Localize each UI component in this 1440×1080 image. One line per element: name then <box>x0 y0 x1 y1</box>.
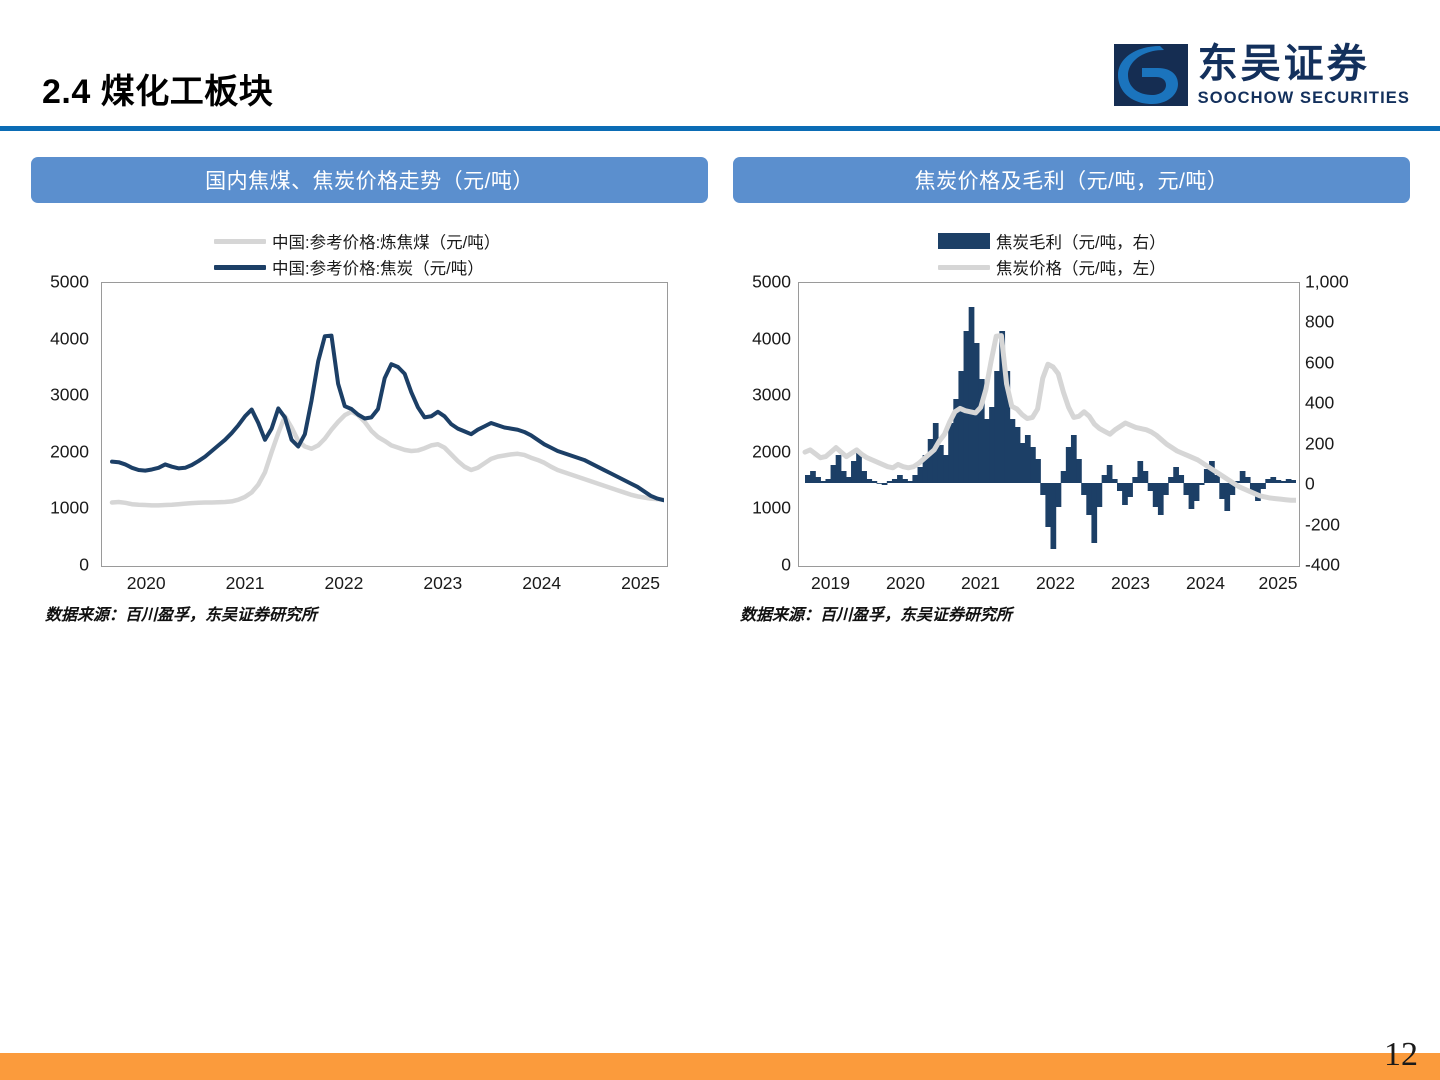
bar <box>882 483 888 485</box>
bar <box>902 479 908 483</box>
footer-bar <box>0 1053 1440 1080</box>
bar <box>810 471 816 483</box>
bar <box>1122 483 1128 505</box>
panel-header-left: 国内焦煤、焦炭价格走势（元/吨） <box>31 157 708 203</box>
page-number: 12 <box>1384 1036 1418 1074</box>
bar <box>912 475 918 483</box>
x-tick: 2023 <box>423 573 462 594</box>
brand-logo: 东吴证券 SOOCHOW SECURITIES <box>1114 44 1410 107</box>
y-tick: 3000 <box>50 385 89 406</box>
bar <box>1219 483 1225 499</box>
x-tick: 2023 <box>1111 573 1150 594</box>
y-tick: 2000 <box>50 441 89 462</box>
chart-panel-coking-coal-coke-price: 国内焦煤、焦炭价格走势（元/吨） 中国:参考价格:炼焦煤（元/吨） 中国:参考价… <box>31 157 708 620</box>
bar <box>851 461 857 483</box>
bar <box>1086 483 1092 515</box>
bar <box>1030 447 1036 483</box>
y-tick: 4000 <box>50 328 89 349</box>
logo-english-name: SOOCHOW SECURITIES <box>1198 90 1410 107</box>
y-tick: 0 <box>1305 474 1315 495</box>
bar <box>836 455 842 483</box>
bar <box>1183 483 1189 495</box>
bar <box>1097 483 1103 507</box>
page-title: 2.4 煤化工板块 <box>42 64 273 113</box>
bar <box>1143 471 1149 483</box>
bar <box>1010 419 1016 483</box>
source-note-left: 数据来源：百川盈孚，东吴证券研究所 <box>45 601 317 625</box>
chart-left: 中国:参考价格:炼焦煤（元/吨） 中国:参考价格:焦炭（元/吨） 5000 40… <box>31 225 708 620</box>
bar <box>1260 483 1266 489</box>
bar <box>1204 469 1210 483</box>
bar <box>1224 483 1230 511</box>
bar <box>1066 447 1072 483</box>
y-tick: 800 <box>1305 312 1334 333</box>
bar <box>1286 479 1292 483</box>
bar <box>918 467 924 483</box>
bar <box>1158 483 1164 515</box>
x-tick: 2020 <box>886 573 925 594</box>
plot-area-right <box>798 282 1300 567</box>
bar <box>1291 480 1296 483</box>
bar <box>1189 483 1195 509</box>
y-axis-right-right-chart: 1,000 800 600 400 200 0 -200 -400 <box>1305 282 1375 565</box>
bar <box>892 479 898 483</box>
bar <box>1117 483 1123 491</box>
x-tick: 2022 <box>324 573 363 594</box>
bar <box>1020 443 1026 483</box>
bar <box>1061 471 1067 483</box>
bar <box>1091 483 1097 543</box>
bar <box>989 407 995 483</box>
source-note-right: 数据来源：百川盈孚，东吴证券研究所 <box>740 601 1012 625</box>
bar <box>1153 483 1159 507</box>
x-tick: 2022 <box>1036 573 1075 594</box>
bar <box>846 477 852 483</box>
legend-label-coke-margin: 焦炭毛利（元/吨，右） <box>996 229 1166 253</box>
bar <box>1173 467 1179 483</box>
bar <box>948 423 954 483</box>
y-tick: 5000 <box>50 272 89 293</box>
x-tick: 2020 <box>127 573 166 594</box>
bar <box>1148 483 1154 491</box>
chart-right: 焦炭毛利（元/吨，右） 焦炭价格（元/吨，左） 5000 4000 3000 2… <box>733 225 1410 620</box>
bar <box>1015 427 1021 483</box>
x-tick: 2021 <box>961 573 1000 594</box>
bar <box>805 475 811 483</box>
y-tick: 600 <box>1305 352 1334 373</box>
x-tick: 2024 <box>522 573 561 594</box>
bar <box>825 479 831 483</box>
y-tick: -400 <box>1305 555 1340 576</box>
bar <box>1245 477 1251 483</box>
x-tick: 2025 <box>621 573 660 594</box>
bar <box>984 419 990 483</box>
bar-series <box>805 307 1296 549</box>
bar <box>1076 459 1082 483</box>
bar <box>994 371 1000 483</box>
header-divider <box>0 126 1440 131</box>
bar <box>1056 483 1062 507</box>
bar <box>1178 475 1184 483</box>
bar <box>866 479 872 483</box>
bar <box>1035 459 1041 483</box>
chart-legend-right: 焦炭毛利（元/吨，右） 焦炭价格（元/吨，左） <box>938 229 1166 279</box>
bar <box>1132 477 1138 483</box>
legend-item-coking-coal: 中国:参考价格:炼焦煤（元/吨） <box>214 229 500 253</box>
panel-header-right: 焦炭价格及毛利（元/吨，元/吨） <box>733 157 1410 203</box>
bar <box>897 475 903 483</box>
y-tick: 2000 <box>752 441 791 462</box>
y-axis-left-chart: 5000 4000 3000 2000 1000 0 <box>31 282 89 565</box>
y-tick: 400 <box>1305 393 1334 414</box>
bar <box>1112 479 1118 483</box>
y-tick: 1,000 <box>1305 272 1349 293</box>
y-axis-left-right-chart: 5000 4000 3000 2000 1000 0 <box>733 282 791 565</box>
bar <box>1276 480 1282 483</box>
legend-item-coke-price: 焦炭价格（元/吨，左） <box>938 255 1166 279</box>
bar <box>861 471 867 483</box>
bar <box>887 481 893 483</box>
logo-chinese-name: 东吴证券 <box>1198 44 1410 84</box>
legend-swatch-line-icon <box>214 265 266 270</box>
bar <box>958 371 964 483</box>
bar <box>1071 435 1077 483</box>
bar <box>969 307 975 483</box>
bar <box>1137 461 1143 483</box>
bar <box>1107 465 1113 483</box>
bar <box>1194 483 1200 501</box>
bar <box>938 445 944 483</box>
bar <box>856 453 862 483</box>
chart-panel-coke-price-and-margin: 焦炭价格及毛利（元/吨，元/吨） 焦炭毛利（元/吨，右） 焦炭价格（元/吨，左）… <box>733 157 1410 620</box>
bar <box>815 477 821 483</box>
chart-legend-left: 中国:参考价格:炼焦煤（元/吨） 中国:参考价格:焦炭（元/吨） <box>214 229 500 279</box>
x-tick: 2025 <box>1259 573 1298 594</box>
bar <box>1045 483 1051 527</box>
legend-label-coking-coal: 中国:参考价格:炼焦煤（元/吨） <box>272 229 500 253</box>
bar <box>943 455 949 483</box>
x-tick: 2021 <box>226 573 265 594</box>
logo-mark-icon <box>1114 44 1188 106</box>
x-tick: 2024 <box>1186 573 1225 594</box>
bar <box>1051 483 1057 549</box>
bar <box>820 481 826 483</box>
y-tick: 3000 <box>752 385 791 406</box>
plot-area-left <box>101 282 668 567</box>
y-tick: 0 <box>79 555 89 576</box>
x-tick: 2019 <box>811 573 850 594</box>
legend-label-coke-price: 焦炭价格（元/吨，左） <box>996 255 1166 279</box>
bar <box>1240 471 1246 483</box>
bar <box>1025 435 1031 483</box>
bar <box>1265 479 1271 483</box>
bar <box>841 471 847 483</box>
y-tick: 5000 <box>752 272 791 293</box>
y-tick: -200 <box>1305 514 1340 535</box>
legend-swatch-line-icon <box>938 265 990 270</box>
bar <box>1281 481 1287 483</box>
series-line <box>805 336 1296 501</box>
legend-item-coke-margin: 焦炭毛利（元/吨，右） <box>938 229 1166 253</box>
series-line <box>112 336 664 501</box>
y-tick: 200 <box>1305 433 1334 454</box>
bar <box>1081 483 1087 495</box>
legend-item-coke: 中国:参考价格:焦炭（元/吨） <box>214 255 500 279</box>
legend-swatch-box-icon <box>938 233 990 249</box>
y-tick: 0 <box>781 555 791 576</box>
legend-label-coke: 中国:参考价格:焦炭（元/吨） <box>272 255 484 279</box>
bar <box>1102 475 1108 483</box>
bar <box>1168 477 1174 483</box>
bar <box>928 439 934 483</box>
bar <box>1163 483 1169 495</box>
bar <box>1270 477 1276 483</box>
bar <box>871 481 877 483</box>
bar <box>877 483 883 484</box>
bar <box>1199 483 1205 485</box>
bar <box>1127 483 1133 497</box>
bar <box>964 331 970 483</box>
bar <box>907 481 913 483</box>
y-tick: 4000 <box>752 328 791 349</box>
y-tick: 1000 <box>752 498 791 519</box>
y-tick: 1000 <box>50 498 89 519</box>
bar <box>831 465 837 483</box>
bar <box>1040 483 1046 495</box>
legend-swatch-line-icon <box>214 239 266 244</box>
